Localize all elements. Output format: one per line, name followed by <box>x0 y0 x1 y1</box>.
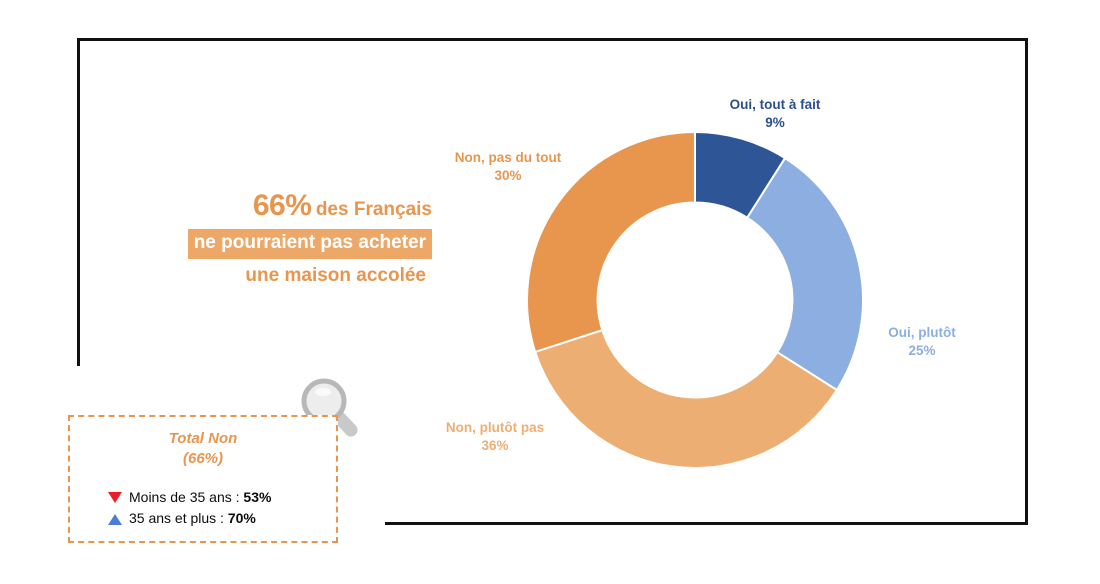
callout-row-label: Moins de 35 ans : <box>129 487 240 509</box>
panel-frame-bottom <box>385 522 1028 525</box>
slice-label-value: 36% <box>420 437 570 455</box>
headline-statement: 66% des Français ne pourraient pas achet… <box>110 186 432 288</box>
panel-frame-left <box>77 38 80 366</box>
list-item: Moins de 35 ans : 53% <box>108 487 336 509</box>
slice-label-value: 9% <box>700 114 850 132</box>
callout-row-value: 53% <box>243 487 271 509</box>
slice-label-value: 25% <box>862 342 982 360</box>
callout-row-value: 70% <box>228 508 256 530</box>
headline-line-2-highlight: ne pourraient pas acheter <box>188 229 432 259</box>
panel-frame-right <box>1025 38 1028 525</box>
callout-rows: Moins de 35 ans : 53% 35 ans et plus : 7… <box>70 487 336 530</box>
slice-label-non-plutot-pas: Non, plutôt pas 36% <box>420 419 570 455</box>
slice-label-name: Oui, plutôt <box>862 324 982 342</box>
list-item: 35 ans et plus : 70% <box>108 508 336 530</box>
triangle-down-icon <box>108 492 122 503</box>
slice-label-name: Oui, tout à fait <box>700 96 850 114</box>
callout-title: Total Non (66%) <box>70 429 336 469</box>
slice-label-name: Non, plutôt pas <box>420 419 570 437</box>
donut-slice <box>747 158 863 390</box>
callout-total-non: Total Non (66%) Moins de 35 ans : 53% 35… <box>68 415 338 543</box>
slice-label-oui-tout-a-fait: Oui, tout à fait 9% <box>700 96 850 132</box>
headline-percent: 66% <box>253 189 312 222</box>
headline-line-1: 66% des Français <box>110 186 432 225</box>
callout-title-line-1: Total Non <box>70 429 336 449</box>
slice-label-non-pas-du-tout: Non, pas du tout 30% <box>428 149 588 185</box>
slice-label-name: Non, pas du tout <box>428 149 588 167</box>
panel-frame-top <box>77 38 1028 41</box>
triangle-up-icon <box>108 514 122 525</box>
headline-subject: des Français <box>316 199 432 220</box>
slice-label-oui-plutot: Oui, plutôt 25% <box>862 324 982 360</box>
callout-row-label: 35 ans et plus : <box>129 508 224 530</box>
callout-title-line-2: (66%) <box>70 449 336 469</box>
headline-line-3: une maison accolée <box>110 264 432 289</box>
slice-label-value: 30% <box>428 167 588 185</box>
